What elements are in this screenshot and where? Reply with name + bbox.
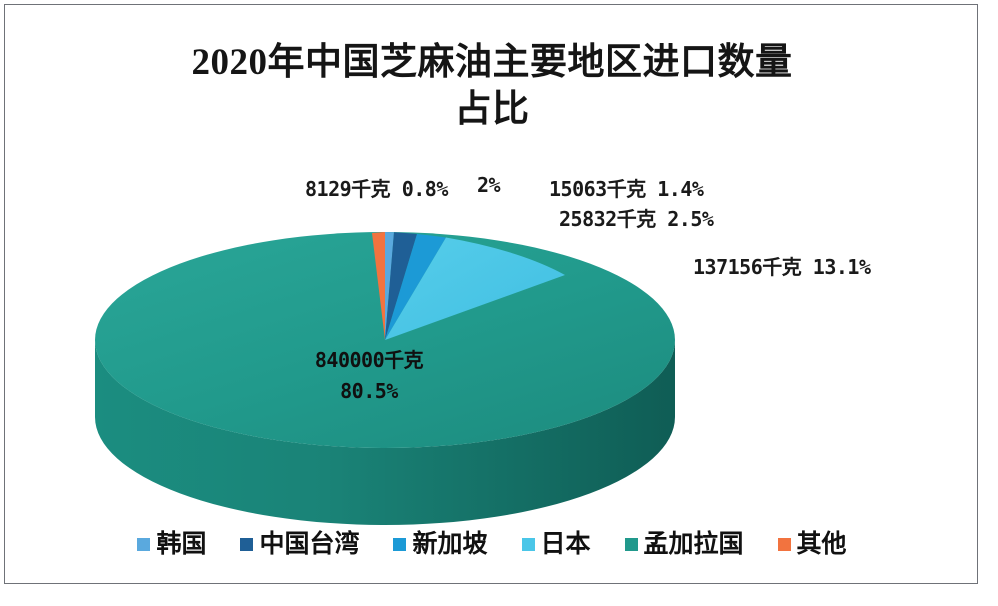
data-label-bangladesh: 840000千克 80.5% — [279, 345, 459, 407]
data-label-other: 137156千克 13.1% — [693, 251, 871, 280]
legend-item-singapore[interactable]: 新加坡 — [393, 532, 487, 557]
legend-label-singapore: 新加坡 — [412, 532, 487, 557]
legend-item-taiwan[interactable]: 中国台湾 — [240, 532, 359, 557]
legend-item-japan[interactable]: 日本 — [522, 532, 591, 557]
chart-legend: 韩国 中国台湾 新加坡 日本 孟加拉国 其他 — [5, 532, 979, 557]
legend-item-korea[interactable]: 韩国 — [137, 532, 206, 557]
legend-swatch-taiwan — [240, 538, 253, 551]
legend-label-other: 其他 — [797, 532, 847, 557]
data-label-korea: 8129千克 0.8% — [305, 173, 448, 202]
legend-item-other[interactable]: 其他 — [778, 532, 847, 557]
legend-item-bangladesh[interactable]: 孟加拉国 — [625, 532, 744, 557]
legend-label-bangladesh: 孟加拉国 — [644, 532, 744, 557]
data-label-bangladesh-value: 840000千克 — [279, 345, 459, 376]
plot-area: 8129千克 0.8% 2% 15063千克 1.4% 25832千克 2.5%… — [5, 5, 979, 585]
legend-swatch-japan — [522, 538, 535, 551]
legend-label-taiwan: 中国台湾 — [259, 532, 359, 557]
data-label-bangladesh-percent: 80.5% — [279, 376, 459, 407]
data-label-japan: 25832千克 2.5% — [559, 203, 713, 232]
data-label-singapore: 15063千克 1.4% — [549, 173, 703, 202]
legend-label-japan: 日本 — [541, 532, 591, 557]
legend-swatch-korea — [137, 538, 150, 551]
legend-label-korea: 韩国 — [156, 532, 206, 557]
legend-swatch-bangladesh — [625, 538, 638, 551]
legend-swatch-singapore — [393, 538, 406, 551]
chart-frame: 2020年中国芝麻油主要地区进口数量 占比 — [4, 4, 978, 584]
legend-swatch-other — [778, 538, 791, 551]
data-label-taiwan: 2% — [477, 173, 500, 197]
